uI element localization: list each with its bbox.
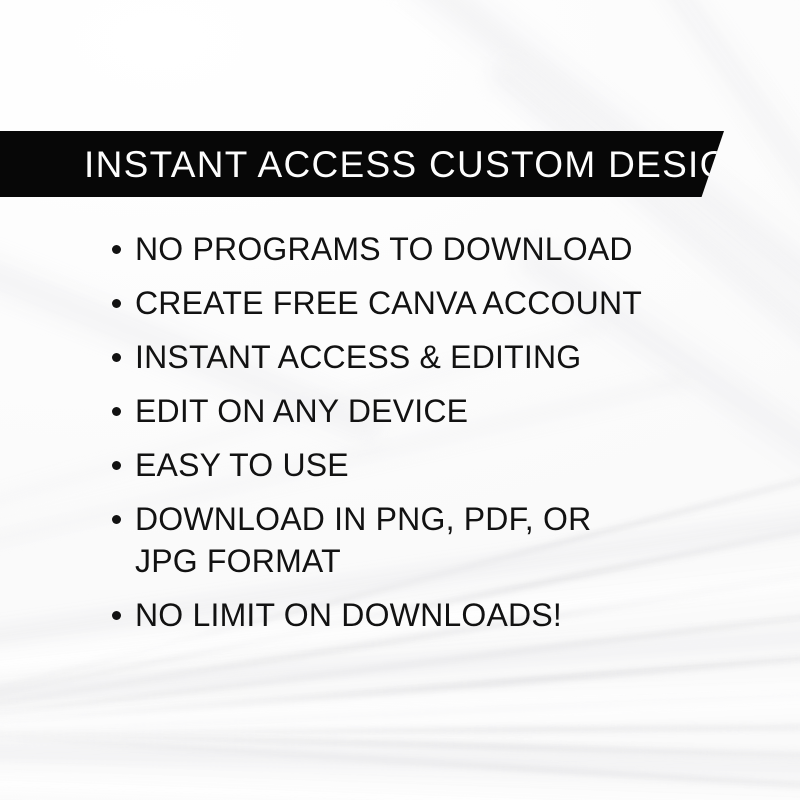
list-item-label: EASY TO USE [135,447,349,483]
list-item-label: EDIT ON ANY DEVICE [135,393,468,429]
list-item: NO LIMIT ON DOWNLOADS! [112,594,712,636]
fan-streak-7 [0,722,800,739]
list-item: EASY TO USE [112,444,712,486]
bullet-dot-icon [112,461,121,470]
list-item: INSTANT ACCESS & EDITING [112,336,712,378]
banner-title-text: INSTANT ACCESS CUSTOM DESIGNS [84,146,784,183]
shade-band-3 [0,735,800,782]
list-item: NO PROGRAMS TO DOWNLOAD [112,228,712,270]
bullet-dot-icon [112,515,121,524]
bullet-dot-icon [112,611,121,620]
poster-canvas: INSTANT ACCESS CUSTOM DESIGNS NO PROGRAM… [0,0,800,800]
list-item-label: NO PROGRAMS TO DOWNLOAD [135,231,633,267]
bullet-dot-icon [112,407,121,416]
light-band-3 [0,761,800,800]
fan-streak-9 [0,704,800,800]
bullet-dot-icon [112,245,121,254]
banner-headline: INSTANT ACCESS CUSTOM DESIGNS [0,131,724,197]
fan-streak-8 [0,716,800,769]
fan-streak-6 [0,677,800,754]
list-item: DOWNLOAD IN PNG, PDF, OR JPG FORMAT [112,498,640,582]
list-item-label: INSTANT ACCESS & EDITING [135,339,581,375]
list-item: EDIT ON ANY DEVICE [112,390,712,432]
bullet-dot-icon [112,353,121,362]
list-item: CREATE FREE CANVA ACCOUNT [112,282,712,324]
list-item-label: DOWNLOAD IN PNG, PDF, OR JPG FORMAT [135,501,591,579]
list-item-label: NO LIMIT ON DOWNLOADS! [135,597,562,633]
feature-list: NO PROGRAMS TO DOWNLOAD CREATE FREE CANV… [112,228,712,648]
bullet-dot-icon [112,299,121,308]
list-item-label: CREATE FREE CANVA ACCOUNT [135,285,642,321]
light-band-2 [0,671,800,753]
